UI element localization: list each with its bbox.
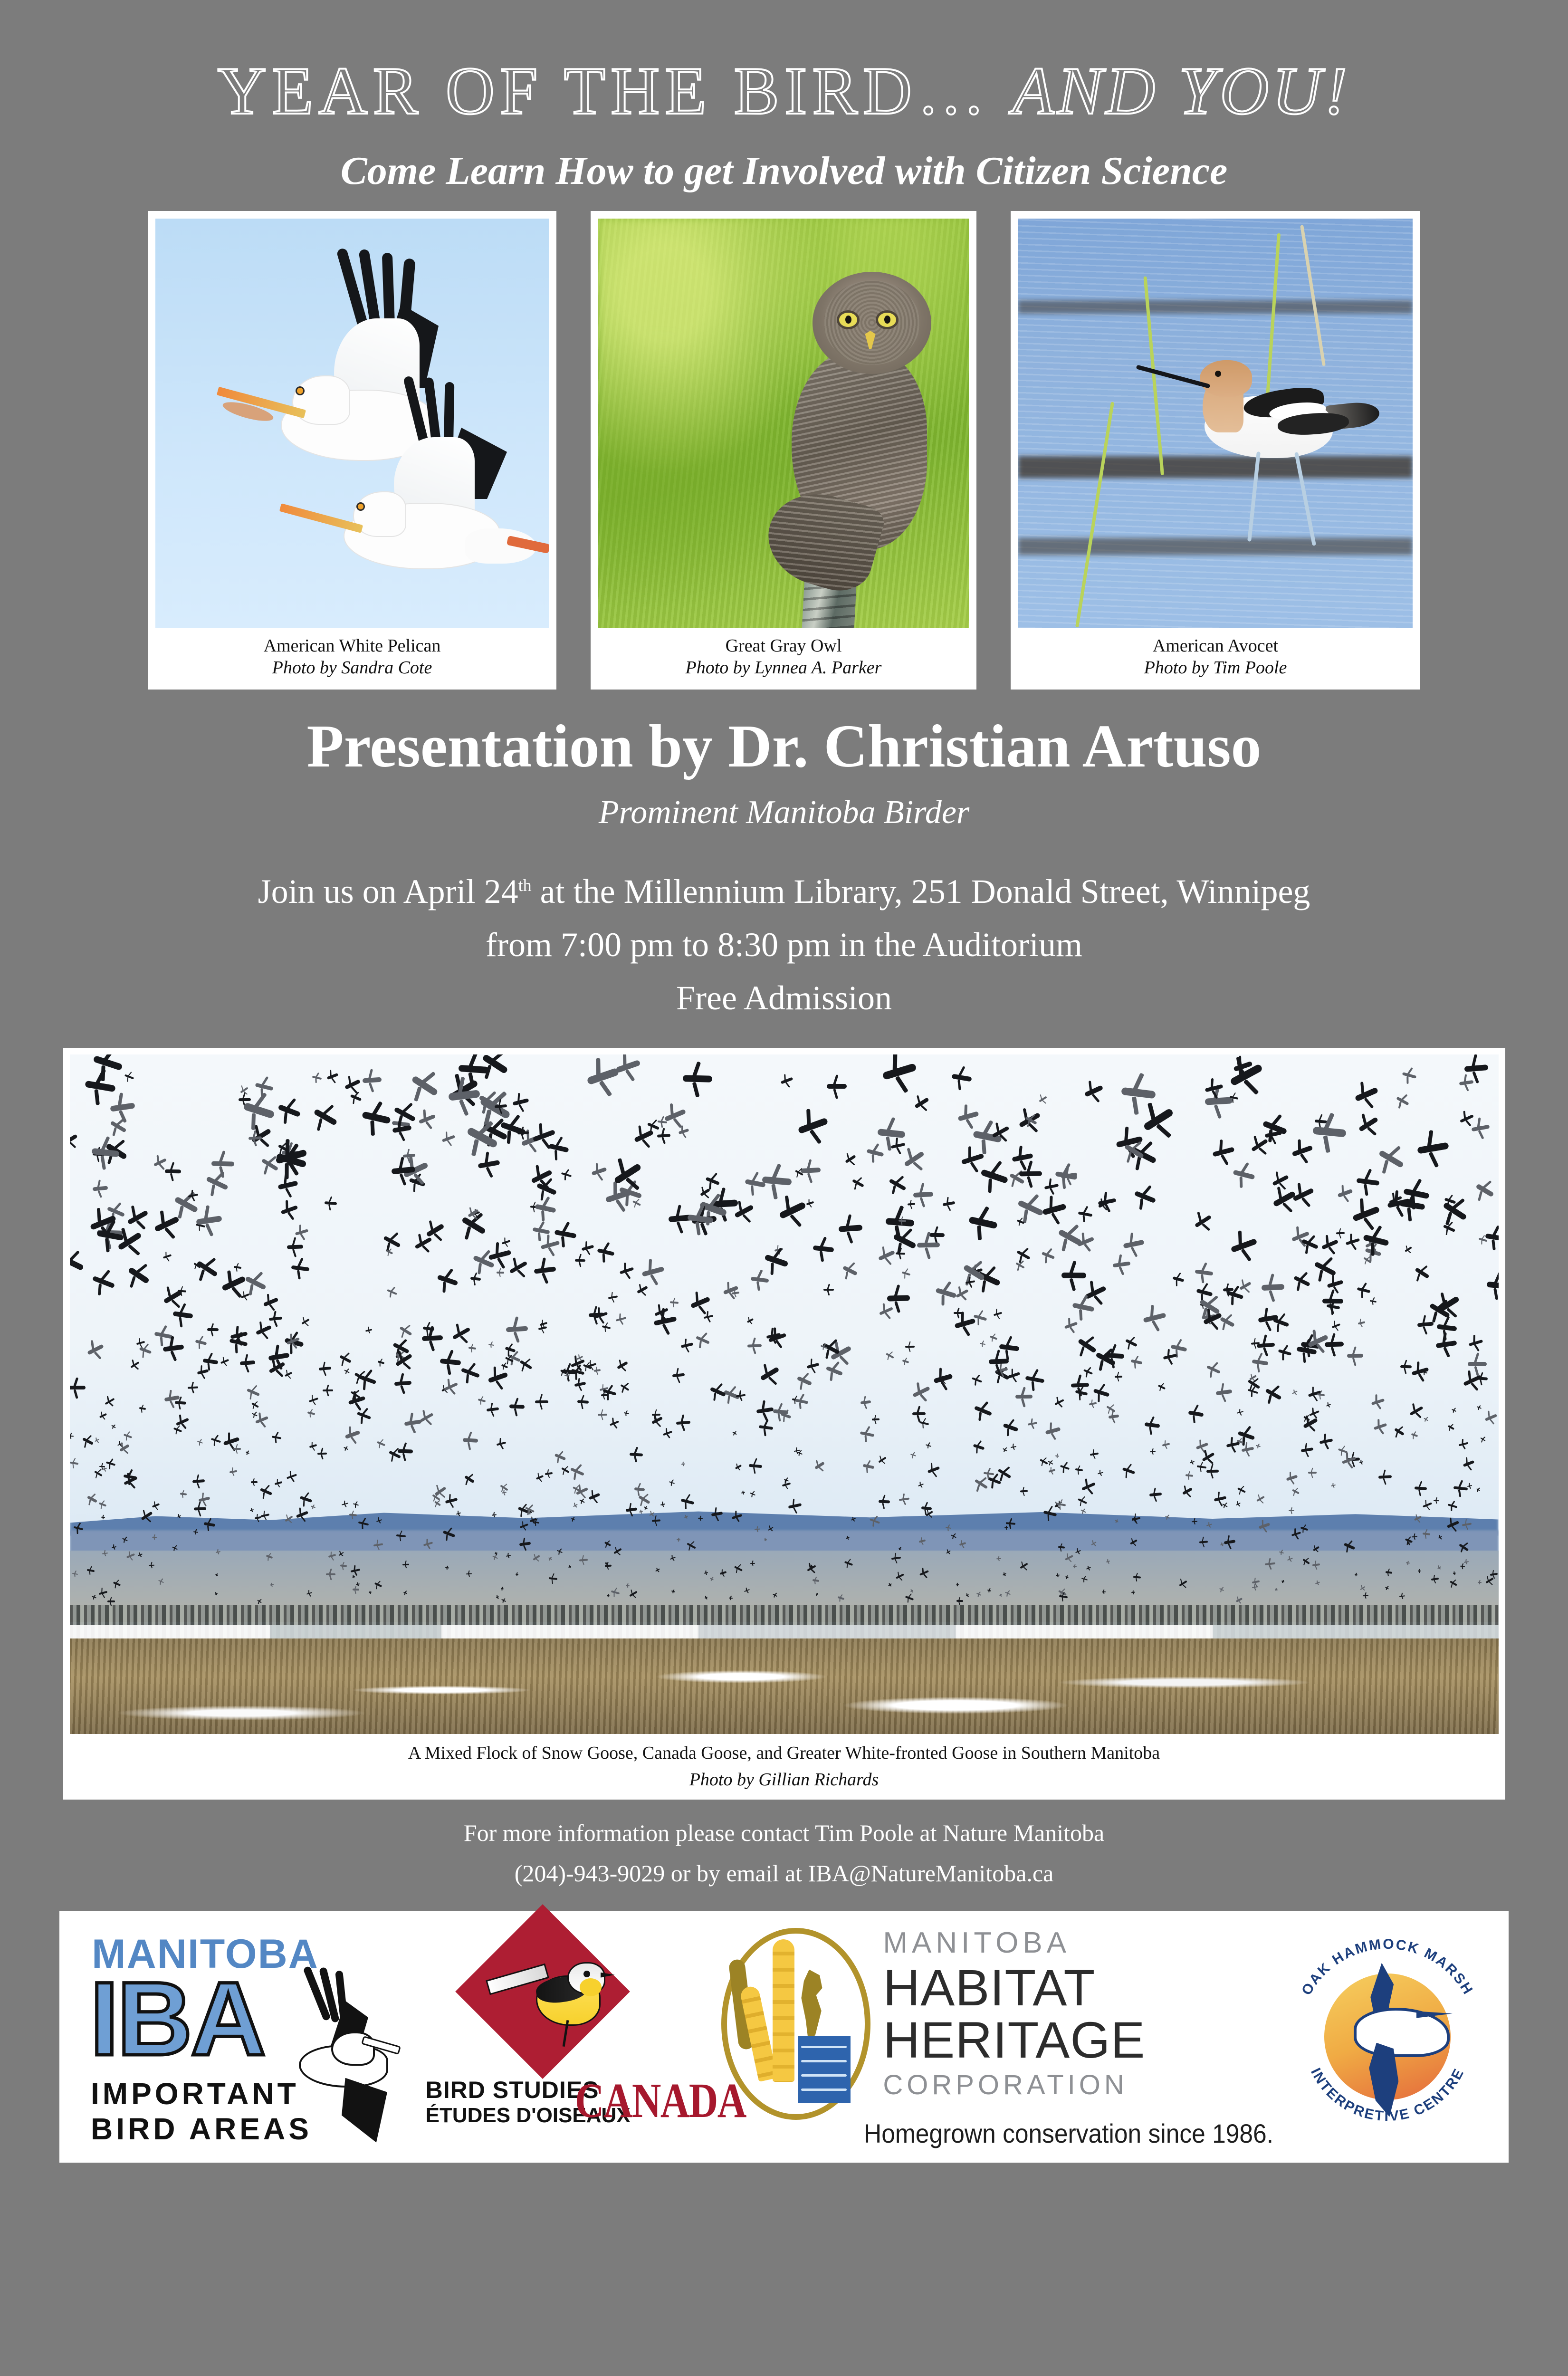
avocet-photo — [1018, 219, 1413, 628]
iba-acronym: IBA — [90, 1971, 264, 2067]
owl-species: Great Gray Owl — [600, 635, 967, 657]
logo-manitoba-habitat-heritage[interactable]: MANITOBA HABITAT HERITAGE CORPORATION Ho… — [721, 1925, 1253, 2148]
iba-important-label: IMPORTANT — [91, 2076, 299, 2111]
ohm-arc-text: OAK HAMMOCK MARSH INTERPRETIVE CENTRE — [1285, 1935, 1490, 2139]
mhhc-line-heritage: HERITAGE — [883, 2014, 1145, 2066]
owl-photo — [598, 219, 969, 628]
flock-caption: A Mixed Flock of Snow Goose, Canada Goos… — [70, 1734, 1499, 1798]
sponsor-logo-bar: MANITOBA IBA IMPORTANT BIRD AREAS — [59, 1911, 1509, 2163]
event-date-prefix: Join us on April 24 — [258, 872, 518, 910]
pelican-caption: American White Pelican Photo by Sandra C… — [155, 628, 549, 685]
photo-card-flock: A Mixed Flock of Snow Goose, Canada Goos… — [63, 1048, 1505, 1800]
date-ordinal-suffix: th — [518, 876, 532, 895]
flock-credit: Photo by Gillian Richards — [70, 1769, 1499, 1790]
mhhc-emblem-icon — [721, 1928, 870, 2120]
contact-line-2[interactable]: (204)-943-9029 or by email at IBA@Nature… — [464, 1853, 1104, 1894]
avocet-credit: Photo by Tim Poole — [1020, 657, 1411, 679]
owl-caption: Great Gray Owl Photo by Lynnea A. Parker — [598, 628, 969, 685]
avocet-caption: American Avocet Photo by Tim Poole — [1018, 628, 1413, 685]
headline-italic: AND YOU! — [1013, 53, 1350, 128]
goose-flock — [70, 1054, 1499, 1734]
contact-line-1: For more information please contact Tim … — [464, 1813, 1104, 1853]
pelican-species: American White Pelican — [157, 635, 547, 657]
logo-oak-hammock-marsh[interactable]: OAK HAMMOCK MARSH INTERPRETIVE CENTRE — [1285, 1935, 1490, 2139]
mhhc-line-habitat: HABITAT — [883, 1962, 1145, 2014]
american-avocet — [1176, 354, 1380, 510]
event-details-line1: Join us on April 24th at the Millennium … — [258, 865, 1310, 918]
bsc-english-name: BIRD STUDIES — [426, 2076, 599, 2104]
mhhc-wordmark: MANITOBA HABITAT HERITAGE CORPORATION — [883, 1925, 1145, 2101]
iba-birdareas-label: BIRD AREAS — [91, 2111, 312, 2146]
pelican-credit: Photo by Sandra Cote — [157, 657, 547, 679]
mhhc-line-corporation: CORPORATION — [883, 2069, 1145, 2101]
photo-card-avocet: American Avocet Photo by Tim Poole — [1011, 211, 1420, 690]
pelican-photo — [155, 219, 549, 628]
event-details-line3: Free Admission — [258, 971, 1310, 1025]
event-venue: at the Millennium Library, 251 Donald St… — [532, 872, 1310, 910]
mhhc-line-manitoba: MANITOBA — [883, 1926, 1145, 1960]
iba-pelican-icon — [282, 1965, 391, 2141]
flock-photo — [70, 1054, 1499, 1734]
avocet-species: American Avocet — [1020, 635, 1411, 657]
great-gray-owl — [773, 272, 929, 576]
bsc-warbler-icon — [495, 1959, 614, 2040]
photo-card-pelican: American White Pelican Photo by Sandra C… — [148, 211, 556, 690]
event-details-line2: from 7:00 pm to 8:30 pm in the Auditoriu… — [258, 918, 1310, 971]
photo-card-owl: Great Gray Owl Photo by Lynnea A. Parker — [591, 211, 976, 690]
pelican-lower-bird — [298, 375, 549, 599]
svg-text:INTERPRETIVE CENTRE: INTERPRETIVE CENTRE — [1308, 2065, 1467, 2124]
presenter-title: Presentation by Dr. Christian Artuso — [307, 711, 1262, 781]
bsc-canada-wordmark: CANADA — [575, 2072, 746, 2129]
owl-credit: Photo by Lynnea A. Parker — [600, 657, 967, 679]
subheadline: Come Learn How to get Involved with Citi… — [341, 148, 1228, 194]
headline-main: YEAR OF THE BIRD… — [218, 53, 990, 128]
svg-text:OAK HAMMOCK MARSH: OAK HAMMOCK MARSH — [1299, 1936, 1476, 1998]
flock-caption-text: A Mixed Flock of Snow Goose, Canada Goos… — [70, 1743, 1499, 1763]
photo-row: American White Pelican Photo by Sandra C… — [0, 211, 1568, 690]
poster-root: YEAR OF THE BIRD… AND YOU! Come Learn Ho… — [0, 0, 1568, 2376]
logo-bird-studies-canada[interactable]: BIRD STUDIES ÉTUDES D'OISEAUX CANADA — [424, 1925, 690, 2148]
page-title: YEAR OF THE BIRD… AND YOU! — [218, 57, 1351, 125]
mhhc-tagline: Homegrown conservation since 1986. — [864, 2118, 1273, 2149]
presenter-subtitle: Prominent Manitoba Birder — [599, 794, 969, 832]
event-details: Join us on April 24th at the Millennium … — [258, 865, 1310, 1025]
contact-block: For more information please contact Tim … — [464, 1813, 1104, 1894]
logo-manitoba-iba[interactable]: MANITOBA IBA IMPORTANT BIRD AREAS — [78, 1925, 392, 2148]
